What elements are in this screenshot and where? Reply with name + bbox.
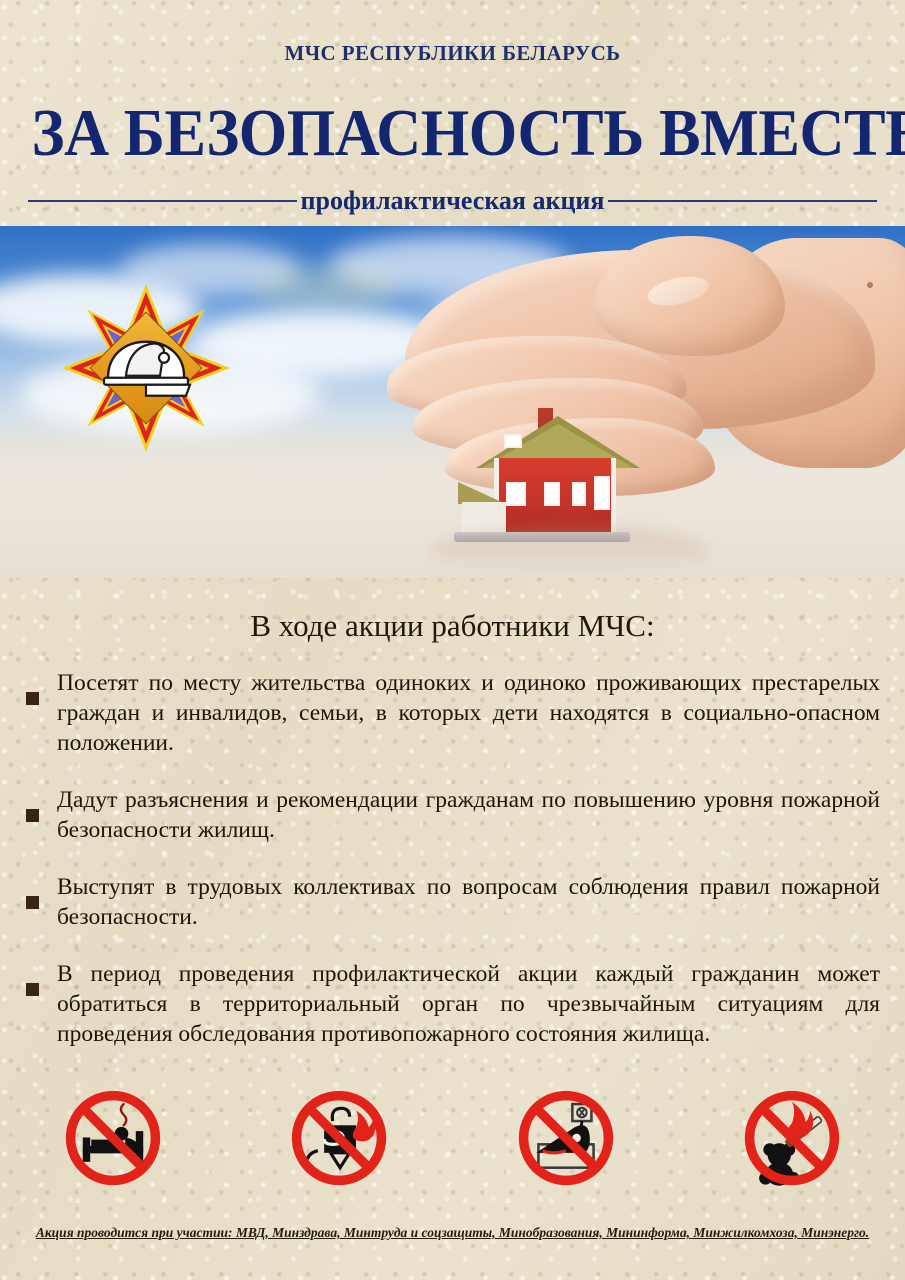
section-heading: В ходе акции работники МЧС:	[0, 608, 905, 644]
house-door	[594, 476, 610, 510]
list-item: Посетят по месту жительства одиноких и о…	[26, 668, 880, 758]
banner-photo	[0, 226, 905, 578]
poster-root: МЧС РЕСПУБЛИКИ БЕЛАРУСЬ ЗА БЕЗОПАСНОСТЬ …	[0, 0, 905, 1280]
no-unattended-iron-icon	[513, 1085, 619, 1191]
bullet-square-icon	[26, 983, 39, 996]
subtitle-text: профилактическая акция	[297, 188, 609, 214]
subtitle-band: профилактическая акция	[28, 188, 877, 214]
list-item: Выступят в трудовых коллективах по вопро…	[26, 872, 880, 932]
list-item-text: Посетят по месту жительства одиноких и о…	[57, 668, 880, 758]
prohibition-icon-row	[0, 1078, 905, 1198]
no-smoking-in-bed-icon	[60, 1085, 166, 1191]
house-window	[506, 482, 526, 506]
list-item-text: В период проведения профилактической акц…	[57, 959, 880, 1049]
no-faulty-wiring-icon	[286, 1085, 392, 1191]
surface-reflection	[430, 526, 710, 578]
bullet-square-icon	[26, 896, 39, 909]
subtitle-rule-left	[28, 200, 297, 202]
bullet-square-icon	[26, 692, 39, 705]
bullet-list: Посетят по месту жительства одиноких и о…	[26, 668, 880, 1076]
list-item: Дадут разъяснения и рекомендации граждан…	[26, 785, 880, 845]
list-item-text: Дадут разъяснения и рекомендации граждан…	[57, 785, 880, 845]
house-porch-roof	[458, 482, 506, 504]
skin-mole	[867, 282, 873, 288]
footer-note: Акция проводится при участии: МВД, Минзд…	[0, 1225, 905, 1241]
house-window	[572, 482, 586, 506]
no-children-with-matches-icon	[739, 1085, 845, 1191]
house-window	[544, 482, 560, 506]
bullet-square-icon	[26, 809, 39, 822]
subtitle-rule-right	[608, 200, 877, 202]
organization-line: МЧС РЕСПУБЛИКИ БЕЛАРУСЬ	[0, 41, 905, 66]
list-item-text: Выступят в трудовых коллективах по вопро…	[57, 872, 880, 932]
list-item: В период проведения профилактической акц…	[26, 959, 880, 1049]
firefighter-helmet-icon	[98, 336, 194, 398]
mchs-star-emblem	[62, 284, 230, 452]
page-title: ЗА БЕЗОПАСНОСТЬ ВМЕСТЕ!	[32, 94, 874, 172]
house-window	[504, 434, 522, 448]
